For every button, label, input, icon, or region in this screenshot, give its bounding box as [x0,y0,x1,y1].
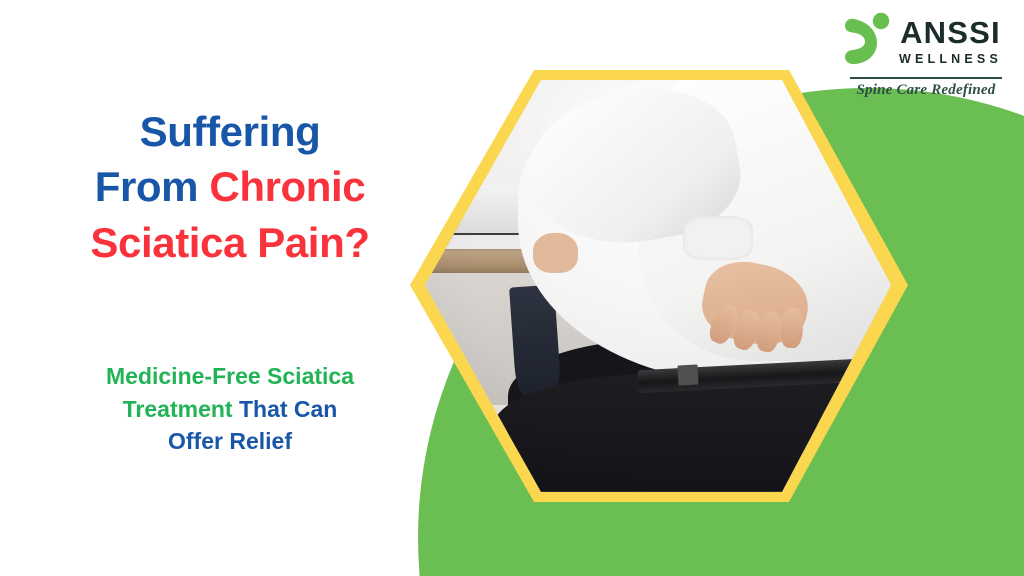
logo-row: ANSSI WELLNESS [839,12,1002,70]
headline: Suffering From Chronic Sciatica Pain? [34,104,426,270]
logo-tagline: Spine Care Redefined [850,82,1002,99]
headline-line-2: From Chronic [34,159,426,214]
headline-line-2-blue: From [95,163,210,210]
headline-line-2-red: Chronic [209,163,365,210]
hexagon-photo-frame [408,66,908,506]
subheadline-line-3-text: Offer Relief [168,428,292,454]
headline-line-3: Sciatica Pain? [34,215,426,270]
anssi-crescent-dot-icon [839,12,891,70]
logo-subname: WELLNESS [899,53,1002,66]
subheadline-line-3: Offer Relief [34,425,426,458]
headline-line-1: Suffering [34,104,426,159]
subheadline-line-1: Medicine-Free Sciatica [34,360,426,393]
back-pain-photo [408,66,908,506]
headline-line-1-text: Suffering [140,108,321,155]
subheadline-line-2-blue: That Can [239,396,337,422]
logo-wordmark: ANSSI WELLNESS [899,17,1002,66]
subheadline-line-2-green: Treatment [123,396,239,422]
logo-name: ANSSI [900,17,1001,48]
subheadline: Medicine-Free Sciatica Treatment That Ca… [34,360,426,458]
subheadline-line-1-text: Medicine-Free Sciatica [106,363,354,389]
subheadline-line-2: Treatment That Can [34,393,426,426]
photo-vignette [408,66,908,506]
banner-canvas: Suffering From Chronic Sciatica Pain? Me… [0,0,1024,576]
headline-line-3-text: Sciatica Pain? [90,219,369,266]
brand-logo[interactable]: ANSSI WELLNESS Spine Care Redefined [839,12,1002,99]
logo-divider [850,77,1002,79]
hexagon-photo-clip [408,66,908,506]
